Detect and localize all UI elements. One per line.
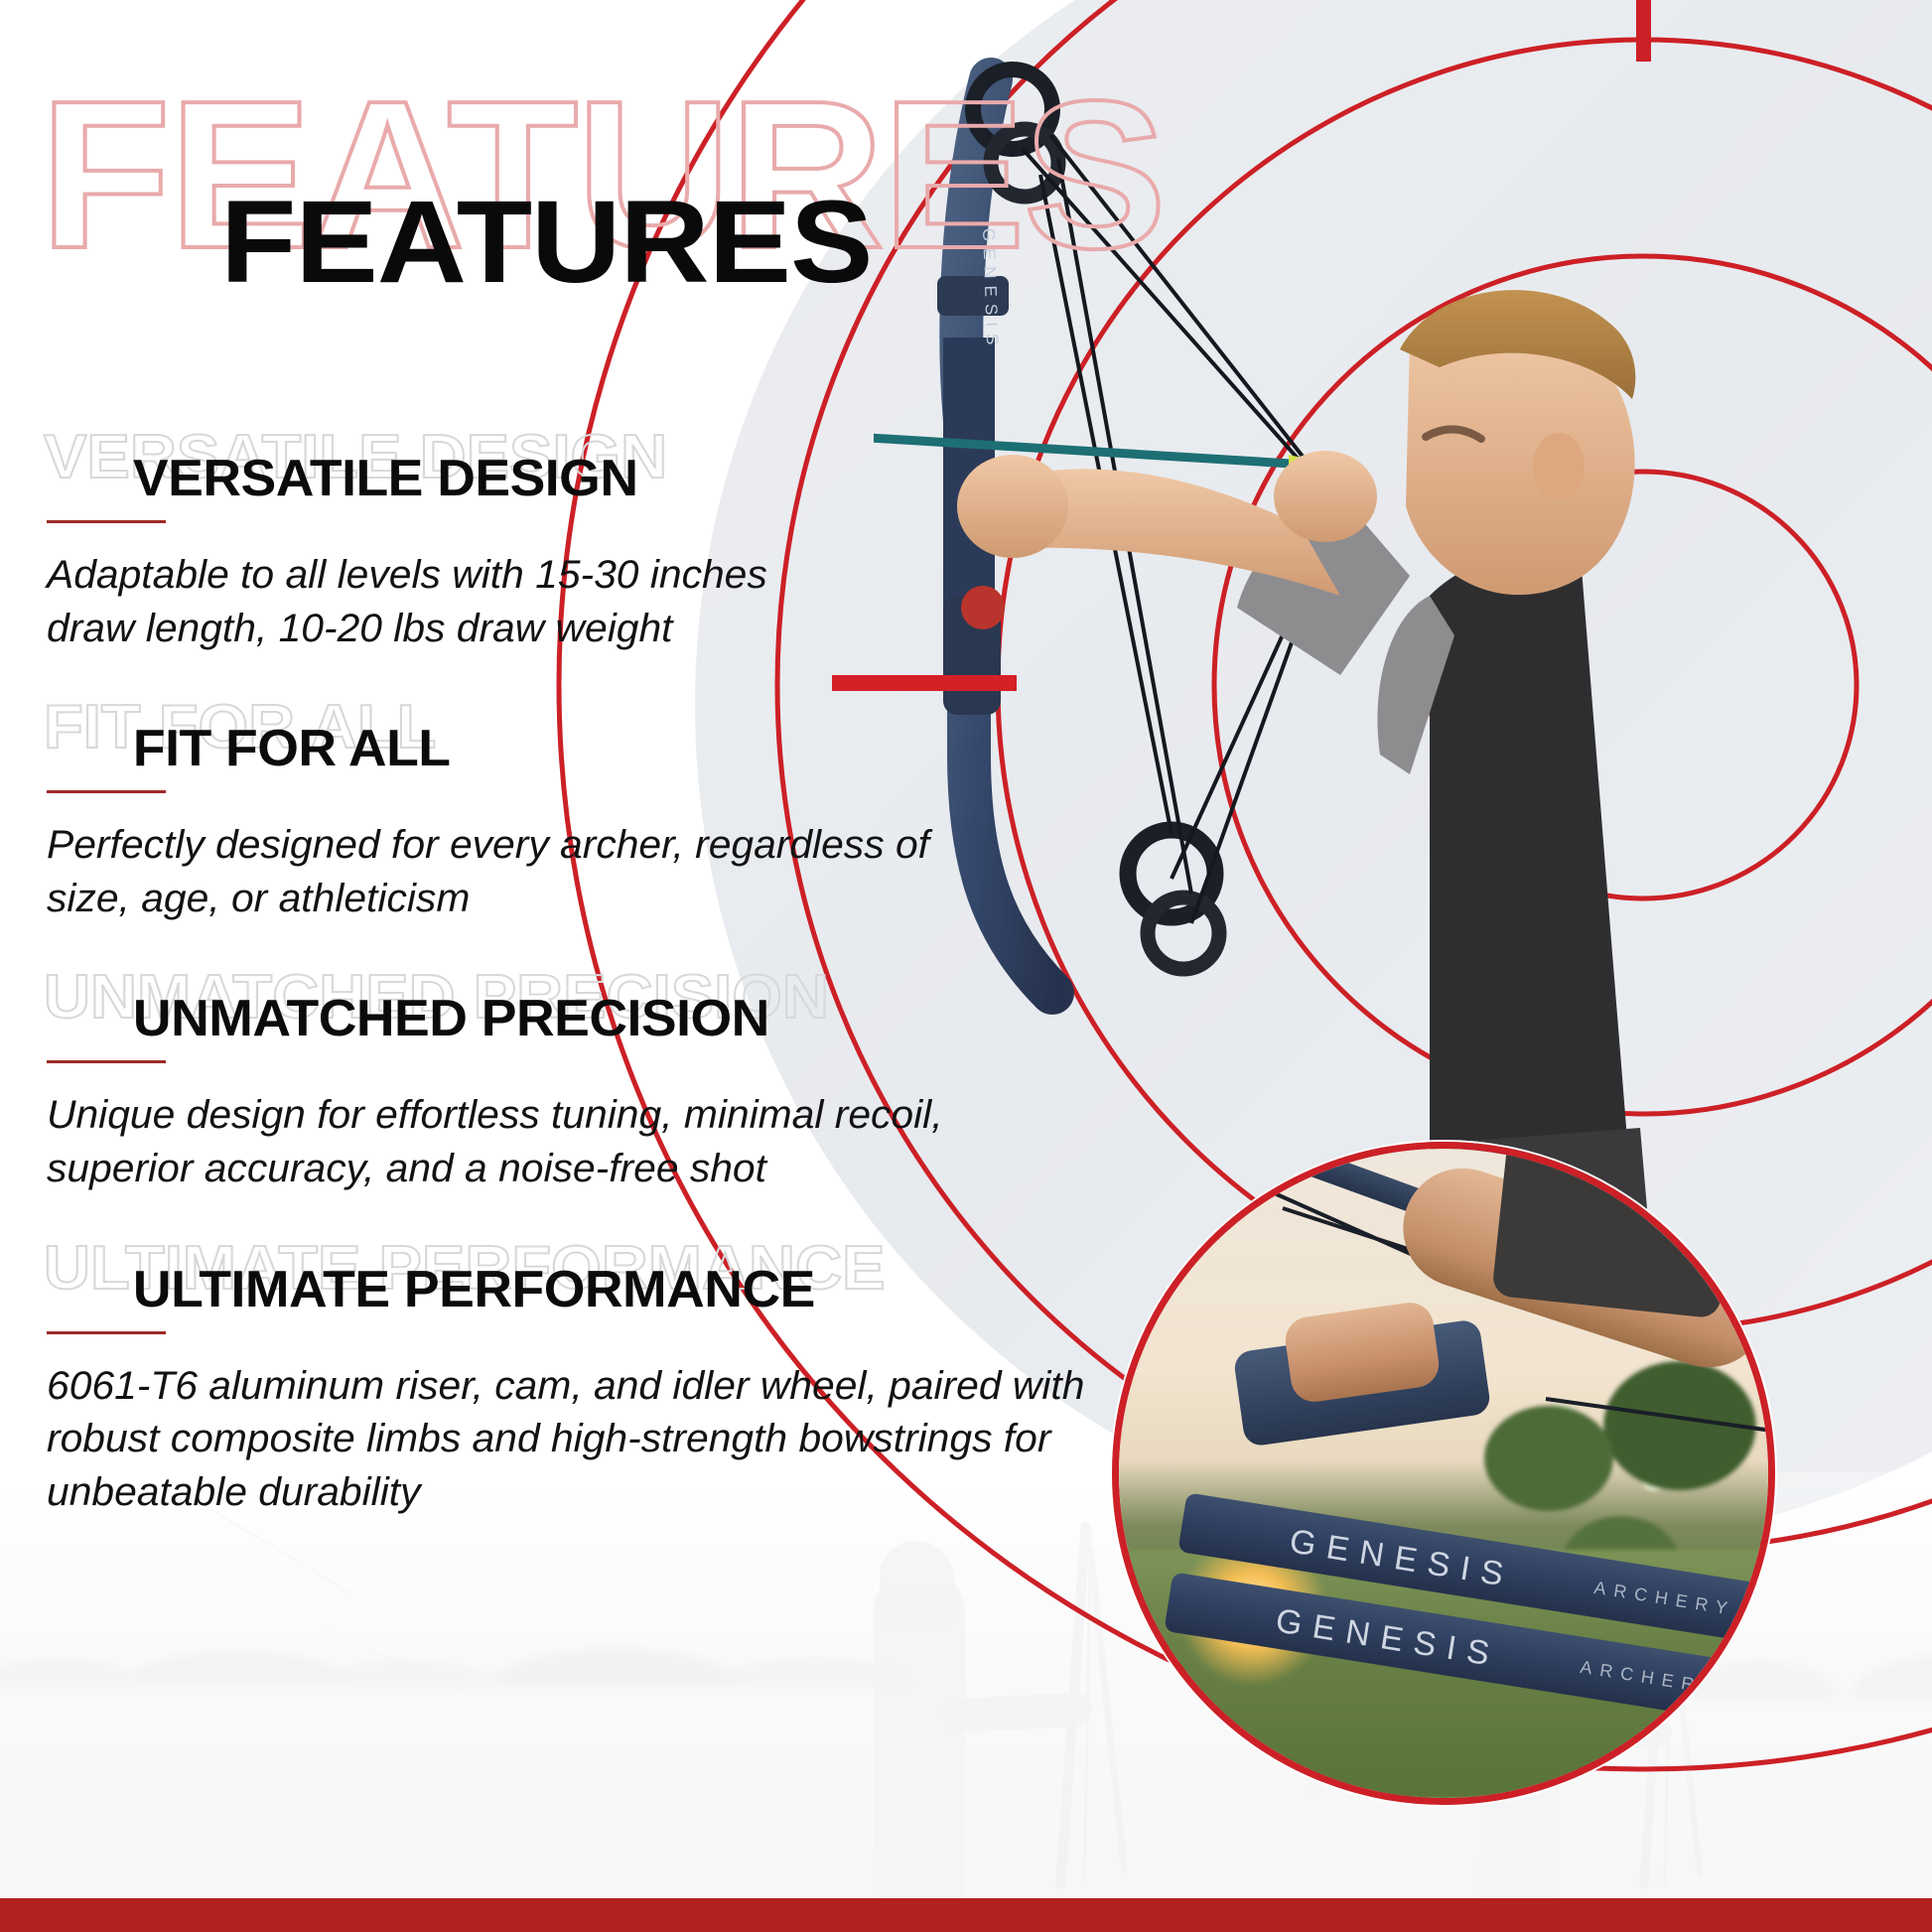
- feature-description: 6061-T6 aluminum riser, cam, and idler w…: [47, 1360, 1130, 1520]
- feature-underline: [47, 520, 166, 523]
- feature-title: VERSATILE DESIGN: [0, 427, 1186, 504]
- feature-item-unmatched-precision: UNMATCHED PRECISION UNMATCHED PRECISION …: [0, 967, 1152, 1195]
- feature-description: Adaptable to all levels with 15-30 inche…: [47, 549, 796, 655]
- background-treeline-left: [0, 1567, 953, 1686]
- feature-title: FIT FOR ALL: [0, 697, 1186, 774]
- inset-photo-bow-closeup: GENESIS ARCHERY GENESIS ARCHERY: [1112, 1142, 1775, 1805]
- feature-title: ULTIMATE PERFORMANCE: [0, 1238, 1186, 1315]
- feature-description: Perfectly designed for every archer, reg…: [47, 819, 938, 925]
- inset-limb-subbrand: ARCHERY: [1579, 1657, 1723, 1700]
- page-title-block: FEATURES FEATURES: [0, 0, 1152, 338]
- feature-description: Unique design for effortless tuning, min…: [47, 1089, 1009, 1195]
- feature-list: VERSATILE DESIGN VERSATILE DESIGN Adapta…: [0, 427, 1152, 1561]
- inset-limb-subbrand: ARCHERY: [1592, 1578, 1736, 1620]
- feature-title: UNMATCHED PRECISION: [0, 967, 1186, 1044]
- feature-underline: [47, 790, 166, 793]
- feature-item-ultimate-performance: ULTIMATE PERFORMANCE ULTIMATE PERFORMANC…: [0, 1238, 1152, 1520]
- feature-underline: [47, 1060, 166, 1063]
- crosshair-tick-vertical: [1636, 0, 1651, 62]
- feature-item-versatile-design: VERSATILE DESIGN VERSATILE DESIGN Adapta…: [0, 427, 1152, 655]
- feature-item-fit-for-all: FIT FOR ALL FIT FOR ALL Perfectly design…: [0, 697, 1152, 925]
- bottom-accent-bar: [0, 1898, 1932, 1932]
- feature-underline: [47, 1331, 166, 1334]
- inset-shirt-sleeve: [1491, 1142, 1737, 1319]
- page-title: FEATURES: [220, 184, 872, 301]
- poster-canvas: Hurricane ◉ ◉ ◉: [0, 0, 1932, 1932]
